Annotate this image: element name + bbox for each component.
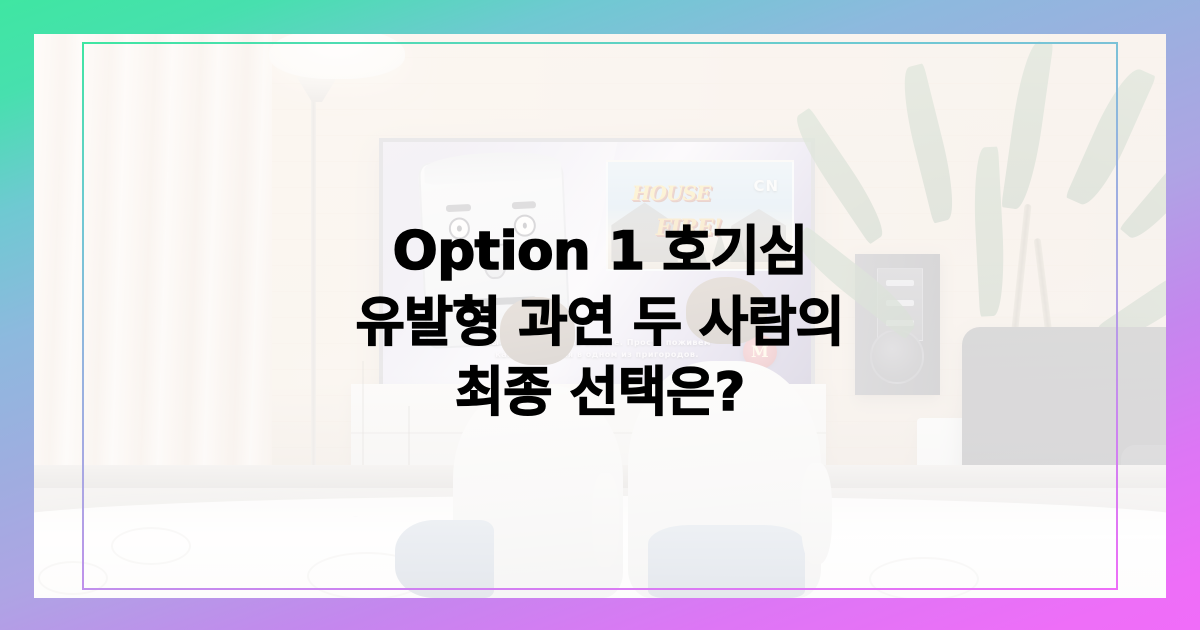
rug-pattern-5	[38, 561, 108, 595]
cartoon-brow-left	[446, 204, 471, 213]
person-left-jeans	[395, 520, 493, 598]
person-right-jeans	[648, 525, 806, 598]
floor-lamp-pole	[311, 57, 316, 531]
person-right-arm	[801, 463, 832, 565]
cartoon-nose	[482, 243, 507, 279]
background-photo: HOUSE FIRE! CN Мы поедем с тобой вместе.…	[34, 34, 1166, 598]
floor-lamp-shade	[269, 34, 405, 79]
banner-word-house: HOUSE	[632, 181, 710, 205]
person-right	[628, 316, 820, 598]
rug-pattern-4	[869, 557, 979, 598]
person-left	[453, 339, 623, 598]
curtain	[34, 34, 272, 530]
person-right-head	[686, 277, 767, 345]
banner-word-fire: FIRE!	[656, 215, 722, 241]
person-left-arm	[592, 473, 619, 566]
cartoon-eye-right	[513, 214, 536, 237]
speaker-driver	[870, 329, 924, 383]
person-left-head	[500, 297, 575, 364]
cartoon-brow-right	[511, 201, 536, 210]
banner-tree-3	[729, 232, 747, 262]
thumbnail-card: HOUSE FIRE! CN Мы поедем с тобой вместе.…	[0, 0, 1200, 630]
cn-channel-logo: CN	[754, 177, 780, 195]
cartoon-eye-left	[448, 217, 471, 240]
rug-pattern-1	[111, 527, 191, 565]
living-room-scene: HOUSE FIRE! CN Мы поедем с тобой вместе.…	[34, 34, 1166, 598]
speaker-button-1	[886, 280, 914, 286]
house-fire-banner: HOUSE FIRE! CN	[606, 160, 794, 271]
